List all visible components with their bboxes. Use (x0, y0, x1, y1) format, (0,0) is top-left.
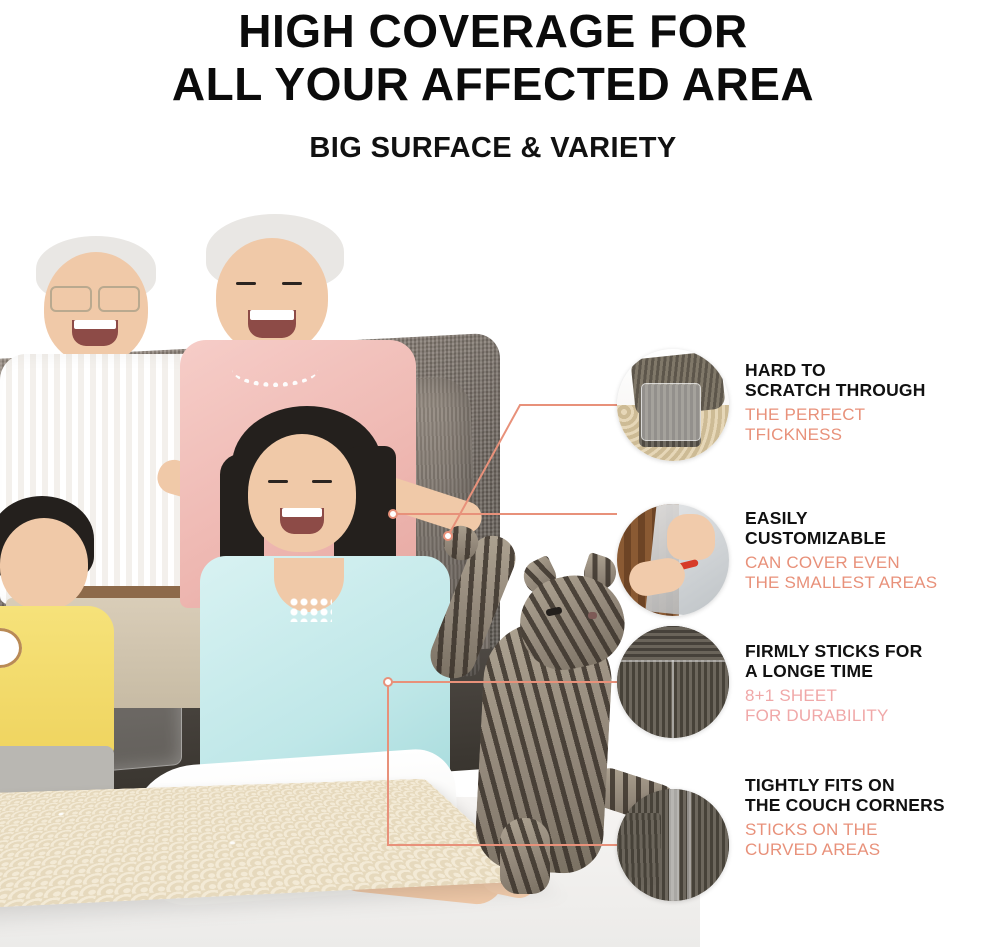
eye (312, 480, 332, 483)
headline-line-2: ALL YOUR AFFECTED AREA (0, 61, 986, 109)
feature-callout-3: FIRMLY STICKS FOR A LONGE TIME 8+1 SHEET… (745, 641, 986, 726)
pearl-necklace (232, 352, 318, 387)
teeth (282, 508, 322, 517)
feature-title-line1: FIRMLY STICKS FOR (745, 641, 986, 661)
cat-leg (500, 818, 550, 894)
feature-sub-line1: STICKS ON THE (745, 820, 986, 840)
lifestyle-photo (0, 196, 700, 947)
feature-thumbnail-3[interactable] (617, 626, 729, 738)
feature-sub-line2: TFICKNESS (745, 425, 986, 445)
eye (236, 282, 256, 285)
feature-sub-line1: THE PERFECT (745, 405, 986, 425)
teeth (74, 320, 116, 329)
feature-title-line1: EASILY (745, 508, 986, 528)
feature-sub-line1: CAN COVER EVEN (745, 553, 986, 573)
glasses-icon (98, 286, 140, 312)
lace-detail (288, 596, 332, 622)
teeth (250, 310, 294, 320)
person-child (0, 496, 114, 796)
feature-thumbnail-4[interactable] (617, 789, 729, 901)
face (0, 518, 88, 610)
glasses-icon (50, 286, 92, 312)
feature-thumbnail-1[interactable] (617, 349, 729, 461)
feature-sub-line2: CURVED AREAS (745, 840, 986, 860)
headline-line-1: HIGH COVERAGE FOR (0, 8, 986, 56)
yellow-shirt (0, 606, 114, 756)
eye (268, 480, 288, 483)
feature-sub-line1: 8+1 SHEET (745, 686, 986, 706)
face (248, 434, 356, 552)
feature-callout-4: TIGHTLY FITS ON THE COUCH CORNERS STICKS… (745, 775, 986, 860)
feature-callout-1: HARD TO SCRATCH THROUGH THE PERFECT TFIC… (745, 360, 986, 445)
feature-title-line1: TIGHTLY FITS ON (745, 775, 986, 795)
eye (282, 282, 302, 285)
feature-title-line1: HARD TO (745, 360, 986, 380)
cat-nose (588, 612, 597, 619)
feature-sub-line2: THE SMALLEST AREAS (745, 573, 986, 593)
feature-title-line2: THE COUCH CORNERS (745, 795, 986, 815)
feature-title-line2: CUSTOMIZABLE (745, 528, 986, 548)
feature-title-line2: A LONGE TIME (745, 661, 986, 681)
feature-thumbnail-2[interactable] (617, 504, 729, 616)
face (44, 252, 148, 364)
infographic-page: HIGH COVERAGE FOR ALL YOUR AFFECTED AREA… (0, 0, 986, 947)
feature-title-line2: SCRATCH THROUGH (745, 380, 986, 400)
feature-sub-line2: FOR DURABILITY (745, 706, 986, 726)
subheadline: BIG SURFACE & VARIETY (0, 132, 986, 165)
face (216, 238, 328, 354)
feature-callout-2: EASILY CUSTOMIZABLE CAN COVER EVEN THE S… (745, 508, 986, 593)
